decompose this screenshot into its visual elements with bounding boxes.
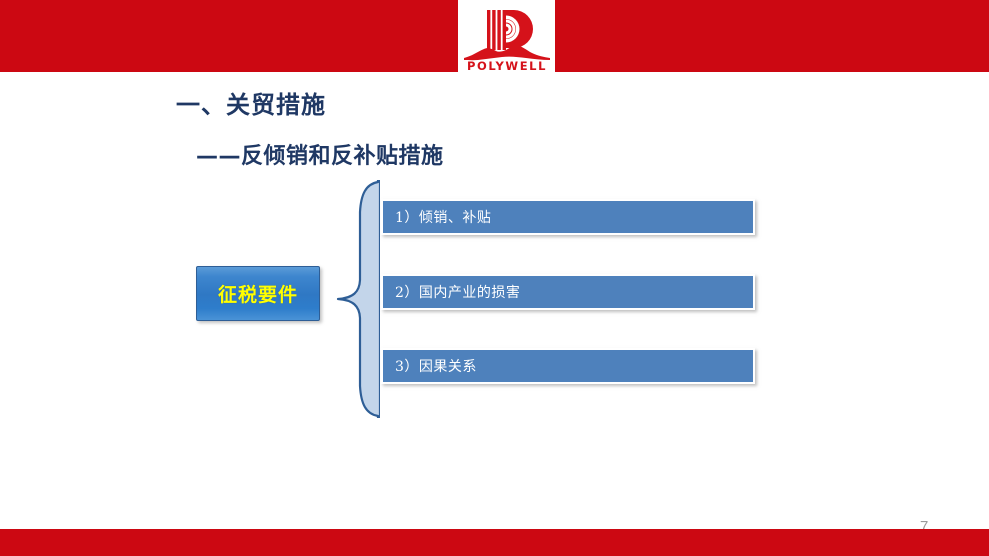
item-box-2[interactable]: 2）国内产业的损害 (381, 274, 755, 310)
logo-wordmark: POLYWELL (467, 59, 547, 72)
slide-heading-secondary: ——反倾销和反补贴措施 (196, 138, 444, 170)
source-box-label: 征税要件 (218, 280, 298, 307)
polywell-logo: POLYWELL (462, 6, 552, 72)
item-box-1-label: 1）倾销、补贴 (383, 207, 491, 227)
item-box-1[interactable]: 1）倾销、补贴 (381, 199, 755, 235)
item-box-2-label: 2）国内产业的损害 (383, 282, 520, 302)
curly-brace-connector (336, 180, 380, 418)
item-box-3-label: 3）因果关系 (383, 356, 477, 376)
source-box[interactable]: 征税要件 (196, 266, 320, 321)
slide-canvas: POLYWELL 一、关贸措施 ——反倾销和反补贴措施 征税要件 1）倾销、补贴… (0, 0, 989, 556)
slide-heading-primary: 一、关贸措施 (176, 85, 326, 120)
polywell-logo-icon: POLYWELL (462, 6, 552, 72)
bottom-red-band (0, 529, 989, 556)
item-box-3[interactable]: 3）因果关系 (381, 348, 755, 384)
curly-brace-icon (336, 180, 380, 418)
